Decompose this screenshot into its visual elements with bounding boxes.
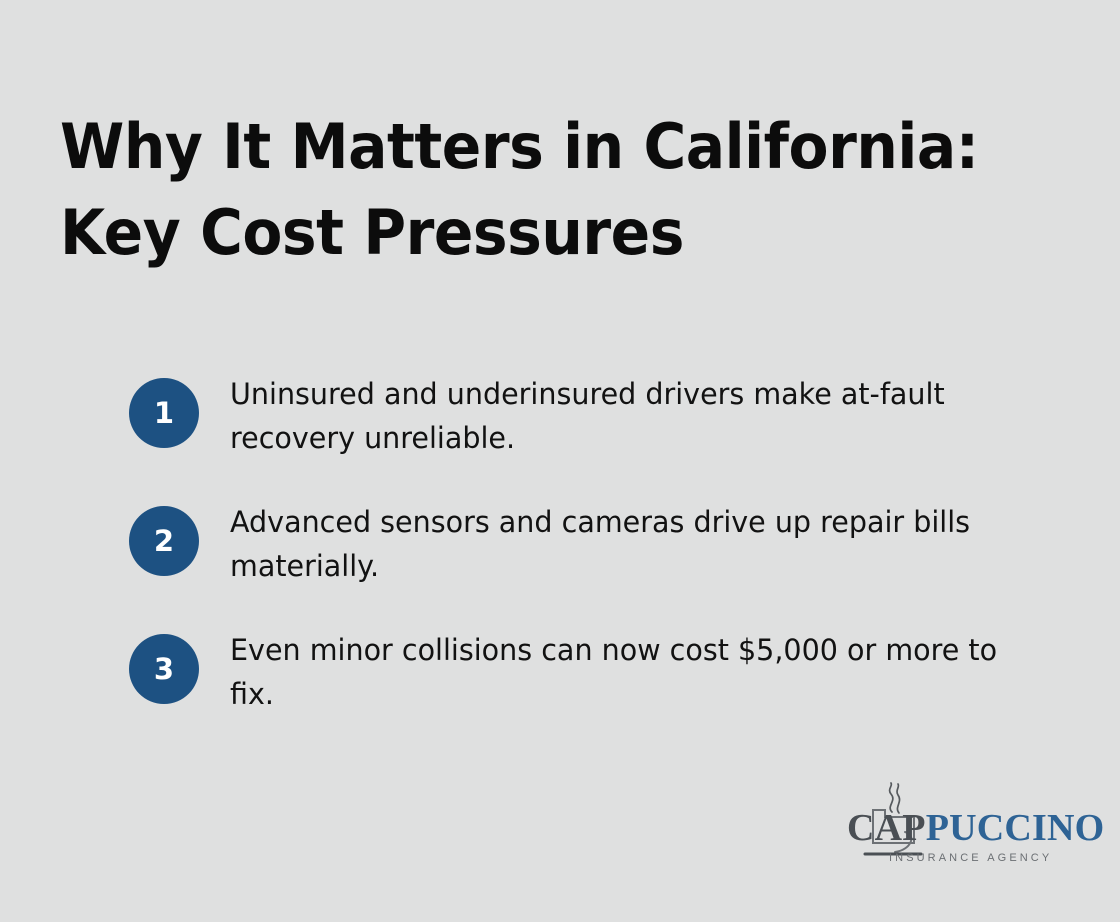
title-line-2: Key Cost Pressures — [60, 190, 981, 276]
page-title: Why It Matters in California: Key Cost P… — [60, 104, 1040, 276]
logo-tagline: INSURANCE AGENCY — [889, 852, 1052, 864]
list-item-text: Advanced sensors and cameras drive up re… — [230, 500, 1018, 588]
list-item-text: Uninsured and underinsured drivers make … — [230, 372, 1018, 460]
list-number-badge: 1 — [129, 378, 199, 448]
list-item: 1 Uninsured and underinsured drivers mak… — [129, 372, 1059, 460]
key-points-list: 1 Uninsured and underinsured drivers mak… — [129, 372, 1059, 716]
list-number-badge: 2 — [129, 506, 199, 576]
list-item: 3 Even minor collisions can now cost $5,… — [129, 628, 1059, 716]
list-number-badge: 3 — [129, 634, 199, 704]
list-item: 2 Advanced sensors and cameras drive up … — [129, 500, 1059, 588]
logo-wordmark: CAPPUCCINO — [847, 809, 1073, 847]
logo-wordmark-blue: PUCCINO — [926, 807, 1105, 849]
list-item-text: Even minor collisions can now cost $5,00… — [230, 628, 1018, 716]
slide-canvas: Why It Matters in California: Key Cost P… — [0, 0, 1120, 922]
logo-wordmark-dark: CAP — [847, 807, 926, 849]
brand-logo: CAPPUCCINO INSURANCE AGENCY — [845, 782, 1075, 874]
title-line-1: Why It Matters in California: — [60, 104, 981, 190]
